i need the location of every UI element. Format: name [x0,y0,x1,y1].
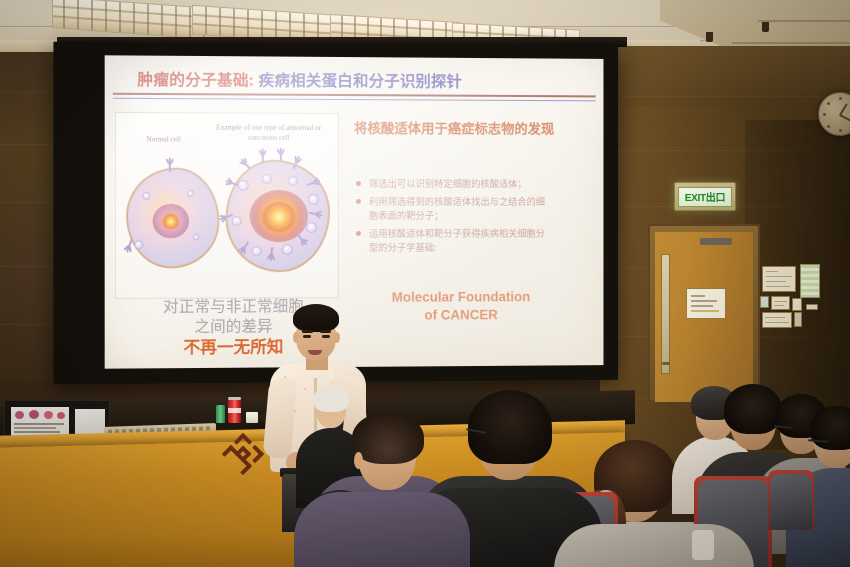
bullet-dot-icon [356,231,361,236]
bullet-item: 利用筛选得到的核酸适体找出与之结合的细胞表面的靶分子； [354,195,552,223]
exit-sign: EXIT出口 [674,182,736,211]
abnormal-cell-label: Example of one type of abnormal or cance… [209,123,328,143]
ceiling-spotlight [762,22,769,32]
eyeglasses-icon [691,412,707,414]
exit-sign-label: EXIT出口 [678,187,732,207]
paper-cup[interactable] [246,412,258,423]
audience-hair [810,406,850,450]
wall-upper-band [600,46,850,106]
slide-title-part2: 疾病相关蛋白和分子识别探针 [254,72,462,90]
theater-seat [770,474,812,530]
door-closer [700,238,732,245]
bullet-text: 运用核酸适体和靶分子获得疾病相关细胞分型的分子学基础: [369,228,545,253]
normal-cell-label: Normal cell [124,135,203,145]
cancerous-cell-illustration [225,160,330,273]
notice-poster [806,304,818,310]
soda-can[interactable] [228,399,241,423]
bullet-item: 运用核酸适体和靶分子获得疾病相关细胞分型的分子学基础: [354,227,552,255]
audience-hair [468,390,552,464]
collar [692,530,714,560]
slide-heading: 将核酸适体用于癌症标志物的发现 [354,119,591,139]
cell-diagram-box: Normal cell Example of one type of abnor… [115,112,339,299]
green-bottle[interactable] [216,405,225,423]
slide-title-part1: 肿瘤的分子基础: [137,72,254,90]
ceiling-light-fixture [52,0,212,40]
slide-english-caption: Molecular Foundation of CANCER [362,288,560,324]
title-divider-top [113,93,596,98]
laptop-screen-left [11,407,69,437]
audience-shoulders [554,524,754,567]
english-line-2: of CANCER [362,306,560,324]
lecture-hall-scene: EXIT出口 [0,0,850,567]
laptop-screen-right [75,409,105,435]
bullet-dot-icon [356,199,361,204]
notice-poster [762,312,792,328]
door-notice-sign [686,288,726,319]
notice-poster [794,312,802,327]
bullet-text: 利用筛选得到的核酸适体找出与之结合的细胞表面的靶分子； [369,196,545,221]
door-handle[interactable] [662,362,670,365]
english-line-1: Molecular Foundation [362,288,560,306]
ceiling-spotlight [706,32,713,42]
bullet-dot-icon [356,181,361,186]
notice-poster-green [800,264,820,298]
bullet-item: 筛选出可以识别特定细胞的核酸适体； [354,177,552,191]
audience-hair [352,412,424,464]
slide-title: 肿瘤的分子基础: 疾病相关蛋白和分子识别探针 [137,68,462,92]
notice-poster [760,296,769,308]
wall-notice-board [760,262,846,340]
presenter-hair [293,304,339,332]
slide-bullet-list: 筛选出可以识别特定细胞的核酸适体； 利用筛选得到的核酸适体找出与之结合的细胞表面… [354,177,552,259]
normal-cell-illustration [126,168,219,269]
audience-shoulders [294,492,470,567]
title-divider-bottom [113,98,596,102]
notice-poster [771,296,790,310]
notice-poster [792,298,802,311]
door-window [661,254,670,374]
notice-poster [762,266,796,292]
bullet-text: 筛选出可以识别特定细胞的核酸适体； [369,178,527,189]
